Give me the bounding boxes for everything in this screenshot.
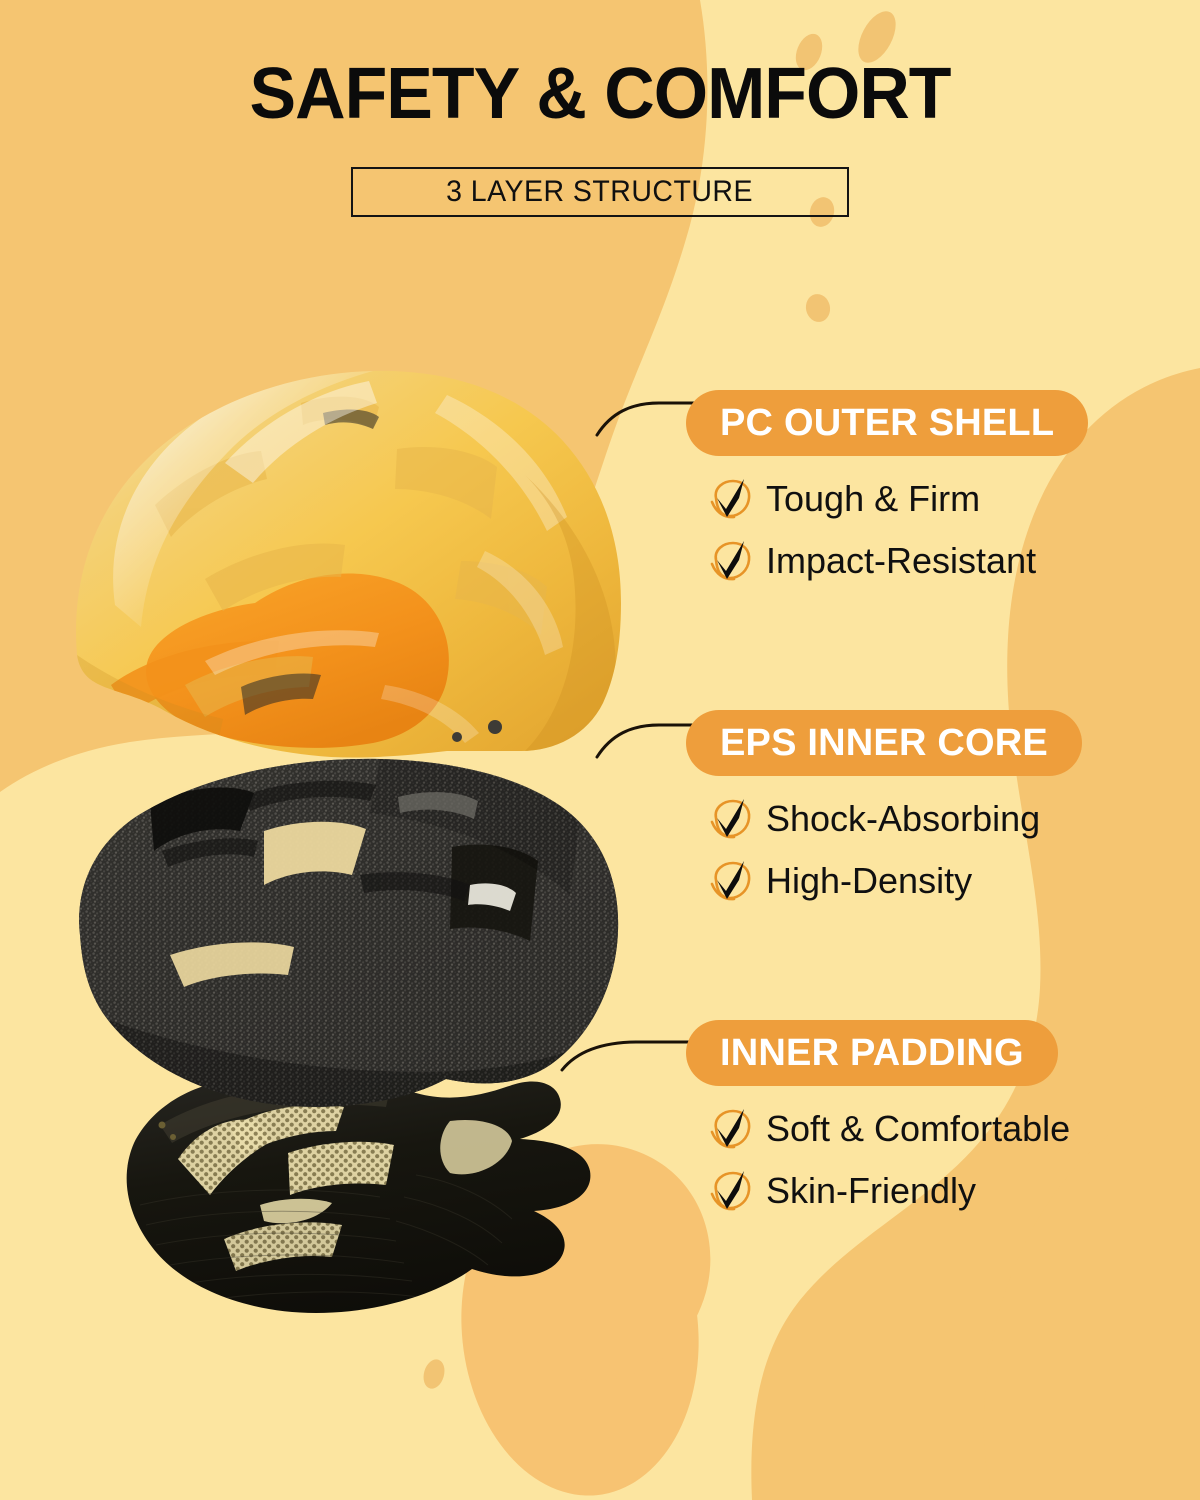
check-circle-icon	[708, 858, 754, 904]
badge-label: PC OUTER SHELL	[720, 402, 1054, 445]
badge-eps-inner-core[interactable]: EPS INNER CORE	[686, 710, 1082, 776]
bullet-list-inner-padding: Soft & Comfortable Skin-Friendly	[686, 1102, 1070, 1218]
bullet-list-pc-outer-shell: Tough & Firm Impact-Resistant	[686, 472, 1088, 588]
list-item: Tough & Firm	[708, 472, 1088, 526]
subtitle-text: 3 LAYER STRUCTURE	[447, 175, 754, 209]
check-circle-icon	[708, 1106, 754, 1152]
bullet-label: High-Density	[766, 863, 972, 899]
bullet-label: Soft & Comfortable	[766, 1111, 1070, 1147]
infographic-poster: SAFETY & COMFORT 3 LAYER STRUCTURE	[0, 0, 1200, 1500]
helmet-outer-shell-image	[55, 355, 655, 805]
decor-dot-4	[803, 292, 832, 324]
list-item: Shock-Absorbing	[708, 792, 1082, 846]
list-item: Skin-Friendly	[708, 1164, 1070, 1218]
bullet-label: Skin-Friendly	[766, 1173, 976, 1209]
shell-vent-hole	[488, 720, 502, 734]
bullet-label: Shock-Absorbing	[766, 801, 1040, 837]
badge-label: EPS INNER CORE	[720, 722, 1048, 765]
page-title-wrap: SAFETY & COMFORT	[0, 58, 1200, 130]
badge-pc-outer-shell[interactable]: PC OUTER SHELL	[686, 390, 1088, 456]
badge-label: INNER PADDING	[720, 1032, 1024, 1075]
page-title: SAFETY & COMFORT	[18, 58, 1182, 130]
list-item: Soft & Comfortable	[708, 1102, 1070, 1156]
feature-block-pc-outer-shell: PC OUTER SHELL Tough & Firm	[686, 390, 1088, 596]
bullet-label: Tough & Firm	[766, 481, 980, 517]
subtitle-box: 3 LAYER STRUCTURE	[351, 167, 849, 217]
list-item: High-Density	[708, 854, 1082, 908]
shell-vent-hole	[452, 732, 462, 742]
check-circle-icon	[708, 476, 754, 522]
check-circle-icon	[708, 538, 754, 584]
padding-rivet	[159, 1122, 166, 1129]
padding-rivet	[170, 1134, 176, 1140]
decor-dot-5	[420, 1357, 447, 1391]
feature-block-eps-inner-core: EPS INNER CORE Shock-Absorbing	[686, 710, 1082, 916]
bullet-label: Impact-Resistant	[766, 543, 1036, 579]
bullet-list-eps-inner-core: Shock-Absorbing High-Density	[686, 792, 1082, 908]
check-circle-icon	[708, 796, 754, 842]
list-item: Impact-Resistant	[708, 534, 1088, 588]
feature-block-inner-padding: INNER PADDING Soft & Comfortable	[686, 1020, 1070, 1226]
badge-inner-padding[interactable]: INNER PADDING	[686, 1020, 1058, 1086]
check-circle-icon	[708, 1168, 754, 1214]
